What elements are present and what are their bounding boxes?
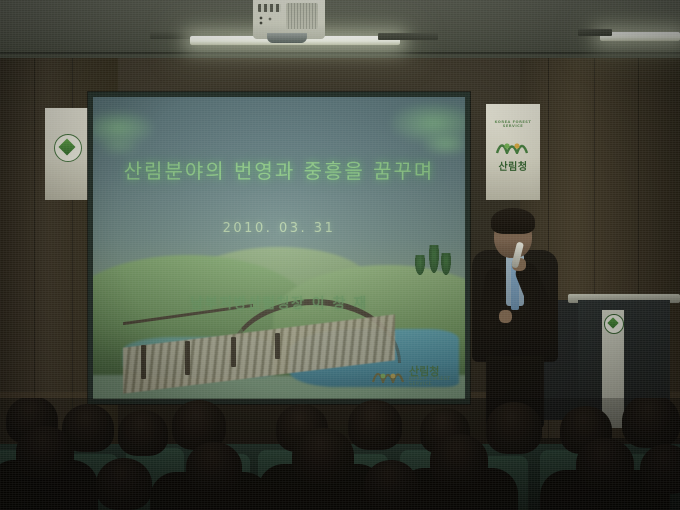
audience-head (292, 428, 354, 484)
right-banner-label: 산림청 (486, 158, 540, 173)
ceiling-seam (0, 52, 680, 54)
left-wall-banner (45, 108, 89, 200)
slide-logo: 산림청 KOREA FOREST SERVICE (371, 363, 457, 389)
audience-head (364, 460, 418, 510)
bridge-post (275, 333, 280, 359)
korea-forest-service-logo-icon (494, 134, 532, 154)
audience-head (430, 434, 488, 486)
slide-logo-sublabel: KOREA FOREST SERVICE (409, 377, 457, 387)
projector-vent (286, 3, 318, 29)
slide-tree (415, 255, 425, 275)
projection-screen-frame: 산림분야의 번영과 중흥을 꿈꾸며 2010. 03. 31 남부지방산림청장 … (88, 92, 470, 404)
audience-head (622, 398, 680, 448)
audience-head (96, 458, 152, 510)
audience-head (576, 438, 634, 490)
projector-buttons[interactable] (258, 4, 281, 12)
audience-head (486, 402, 542, 454)
right-wall-banner: 산림청 KOREA FOREST SERVICE (486, 104, 540, 200)
audience-head (348, 400, 402, 450)
audience-head (186, 442, 242, 492)
seated-audience (0, 398, 680, 510)
bridge-post (185, 341, 190, 375)
bridge-post (231, 337, 236, 367)
ceiling-light-secondary (600, 32, 680, 41)
slide-title: 산림분야의 번영과 중흥을 꿈꾸며 (93, 155, 465, 184)
slide-presenter: 남부지방산림청장 이 창 재 (93, 293, 465, 313)
korea-forest-service-logo-icon (371, 363, 405, 383)
right-banner-arc-text: KOREA FOREST SERVICE (486, 120, 540, 128)
slide-date: 2010. 03. 31 (93, 221, 465, 236)
light-housing-right (378, 33, 438, 40)
projector-indicator-lights (258, 15, 278, 25)
audience-head (640, 444, 680, 494)
audience-head (118, 410, 168, 456)
slide-cloud (99, 137, 139, 155)
audience-head (16, 426, 74, 478)
presenter (466, 206, 572, 426)
projector-lens (267, 33, 307, 43)
projection-screen: 산림분야의 번영과 중흥을 꿈꾸며 2010. 03. 31 남부지방산림청장 … (93, 97, 465, 399)
bridge-post (141, 345, 146, 379)
light-housing-far-right (578, 29, 612, 36)
slide-tree (441, 253, 451, 275)
presenter-hair (491, 208, 535, 234)
auditorium-photo: 산림청 KOREA FOREST SERVICE (0, 0, 680, 510)
slide-tree (429, 245, 439, 273)
slide-cloud (423, 133, 465, 155)
presenter-hand-lower (499, 310, 512, 323)
